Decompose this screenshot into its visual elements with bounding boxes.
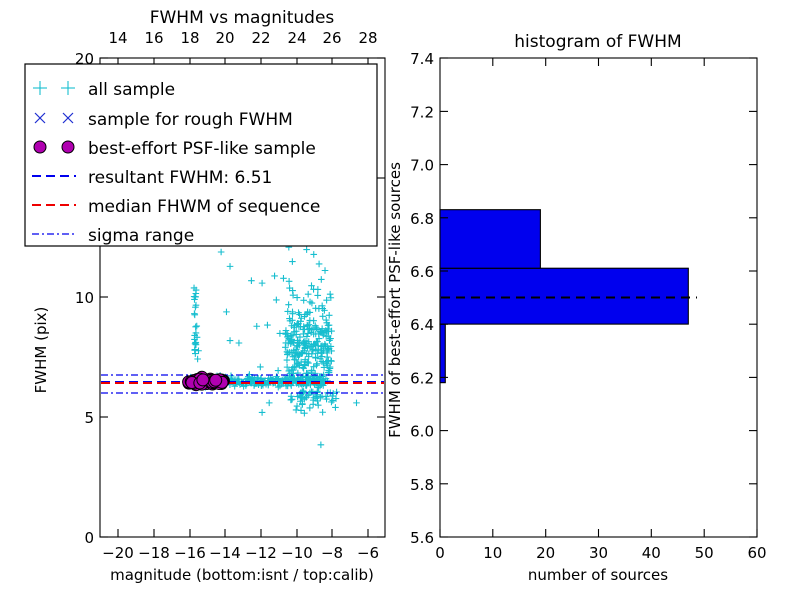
matplotlib-figure: FWHM vs magnitudes 14 16 18 20 22 24 26 …	[0, 0, 800, 600]
scatter-point	[218, 249, 225, 256]
left-bottom-ticks	[118, 529, 368, 537]
psf-like-point	[197, 374, 209, 386]
y-tick-label: 5	[84, 409, 94, 427]
top-tick-label: 20	[215, 29, 234, 47]
legend-label: best-effort PSF-like sample	[88, 139, 316, 159]
scatter-point	[227, 337, 234, 344]
y-tick-label: 6.2	[410, 369, 434, 387]
y-tick-label: 6.8	[410, 210, 434, 228]
scatter-point	[259, 280, 266, 287]
y-tick-label: 5.8	[410, 476, 434, 494]
histogram-bar	[440, 210, 540, 269]
x-tick-label: 0	[435, 544, 445, 562]
scatter-point	[315, 286, 322, 293]
scatter-point	[289, 258, 296, 265]
figure-canvas: FWHM vs magnitudes 14 16 18 20 22 24 26 …	[0, 0, 800, 600]
scatter-point	[271, 273, 278, 280]
scatter-point	[264, 322, 271, 329]
scatter-point	[288, 397, 295, 404]
scatter-point	[259, 409, 266, 416]
x-tick-label: −14	[209, 544, 241, 562]
scatter-point	[303, 246, 310, 253]
legend-label: all sample	[88, 80, 175, 100]
scatter-point	[191, 310, 198, 317]
scatter-point	[280, 275, 287, 282]
top-tick-label: 16	[144, 29, 163, 47]
left-top-axis-ticklabels: 14 16 18 20 22 24 26 28	[108, 29, 377, 47]
left-panel-scatter: FWHM vs magnitudes 14 16 18 20 22 24 26 …	[25, 8, 385, 584]
scatter-point	[318, 276, 325, 283]
x-tick-label: 50	[695, 544, 714, 562]
scatter-psf-like-sample	[183, 371, 230, 390]
x-tick-label: −12	[245, 544, 277, 562]
x-tick-label: 60	[747, 544, 766, 562]
scatter-point	[223, 309, 230, 316]
scatter-point	[192, 341, 199, 348]
y-tick-label: 0	[84, 529, 94, 547]
left-plot-title: FWHM vs magnitudes	[150, 8, 335, 28]
left-plot-legend[interactable]: all sample sample for rough FWHM best-ef…	[25, 64, 377, 246]
legend-label: median FHWM of sequence	[88, 197, 320, 217]
reference-lines	[101, 375, 384, 393]
scatter-point	[253, 323, 260, 330]
scatter-point	[293, 407, 300, 414]
x-tick-label: 40	[642, 544, 661, 562]
scatter-point	[285, 301, 292, 308]
x-tick-label: 10	[483, 544, 502, 562]
right-y-ticklabels: 5.6 5.8 6.0 6.2 6.4 6.6 6.8 7.0 7.2 7.4	[410, 50, 434, 547]
scatter-point	[191, 347, 198, 354]
histogram-bars	[440, 210, 688, 383]
top-tick-label: 22	[251, 29, 270, 47]
scatter-point	[193, 323, 200, 330]
top-tick-label: 26	[322, 29, 341, 47]
dot-icon	[62, 141, 74, 153]
scatter-point	[328, 399, 335, 406]
dot-icon	[34, 141, 46, 153]
scatter-point	[266, 400, 273, 407]
scatter-point	[305, 330, 312, 337]
right-y-axis-label: FWHM of best-effort PSF-like sources	[386, 162, 404, 438]
scatter-point	[192, 324, 199, 331]
scatter-point	[319, 409, 326, 416]
top-tick-label: 18	[180, 29, 199, 47]
left-x-axis-label: magnitude (bottom:isnt / top:calib)	[110, 566, 374, 584]
x-tick-label: −20	[102, 544, 134, 562]
top-tick-label: 28	[358, 29, 377, 47]
y-tick-label: 10	[75, 289, 94, 307]
scatter-point	[318, 441, 325, 448]
x-tick-label: −10	[281, 544, 313, 562]
right-x-axis-label: number of sources	[528, 566, 668, 584]
scatter-point	[333, 389, 340, 396]
scatter-point	[273, 297, 280, 304]
scatter-point	[307, 405, 314, 412]
histogram-bar	[440, 268, 688, 324]
scatter-point	[327, 291, 334, 298]
left-x-ticklabels: −20 −18 −16 −14 −12 −10 −8 −6	[102, 544, 379, 562]
right-panel-histogram: histogram of FWHM	[386, 32, 767, 584]
scatter-point	[322, 267, 329, 274]
y-tick-label: 6.6	[410, 263, 434, 281]
x-tick-label: −18	[138, 544, 170, 562]
scatter-point	[277, 330, 284, 337]
scatter-point	[308, 388, 315, 395]
x-tick-label: −16	[174, 544, 206, 562]
scatter-point	[310, 251, 317, 258]
left-y-axis-label: FWHM (pix)	[32, 307, 50, 394]
x-tick-label: 30	[589, 544, 608, 562]
scatter-point	[275, 367, 282, 374]
scatter-point	[316, 261, 323, 268]
scatter-point	[314, 292, 321, 299]
scatter-point	[236, 340, 243, 347]
legend-label: sample for rough FWHM	[88, 110, 293, 130]
scatter-point	[332, 404, 339, 411]
x-tick-label: 20	[536, 544, 555, 562]
scatter-point	[300, 297, 307, 304]
scatter-point	[248, 277, 255, 284]
scatter-point	[285, 350, 292, 357]
scatter-point	[286, 278, 293, 285]
y-tick-label: 5.6	[410, 529, 434, 547]
histogram-bar	[440, 324, 445, 383]
y-tick-label: 6.0	[410, 423, 434, 441]
top-tick-label: 14	[108, 29, 127, 47]
x-tick-label: −8	[321, 544, 343, 562]
scatter-point	[312, 305, 319, 312]
scatter-point	[326, 312, 333, 319]
x-tick-label: −6	[357, 544, 379, 562]
scatter-point	[227, 263, 234, 270]
legend-label: sigma range	[88, 226, 194, 246]
scatter-point	[305, 291, 312, 298]
y-tick-label: 7.4	[410, 50, 434, 68]
right-x-ticklabels: 0 10 20 30 40 50 60	[435, 544, 766, 562]
legend-label: resultant FWHM: 6.51	[88, 168, 272, 188]
y-tick-label: 6.4	[410, 316, 434, 334]
scatter-point	[315, 402, 322, 409]
scatter-point	[353, 400, 360, 407]
scatter-point	[257, 364, 264, 371]
right-plot-title: histogram of FWHM	[514, 32, 681, 52]
scatter-point	[319, 313, 326, 320]
y-tick-label: 7.0	[410, 157, 434, 175]
y-tick-label: 7.2	[410, 103, 434, 121]
psf-like-point	[210, 374, 222, 386]
top-tick-label: 24	[287, 29, 306, 47]
